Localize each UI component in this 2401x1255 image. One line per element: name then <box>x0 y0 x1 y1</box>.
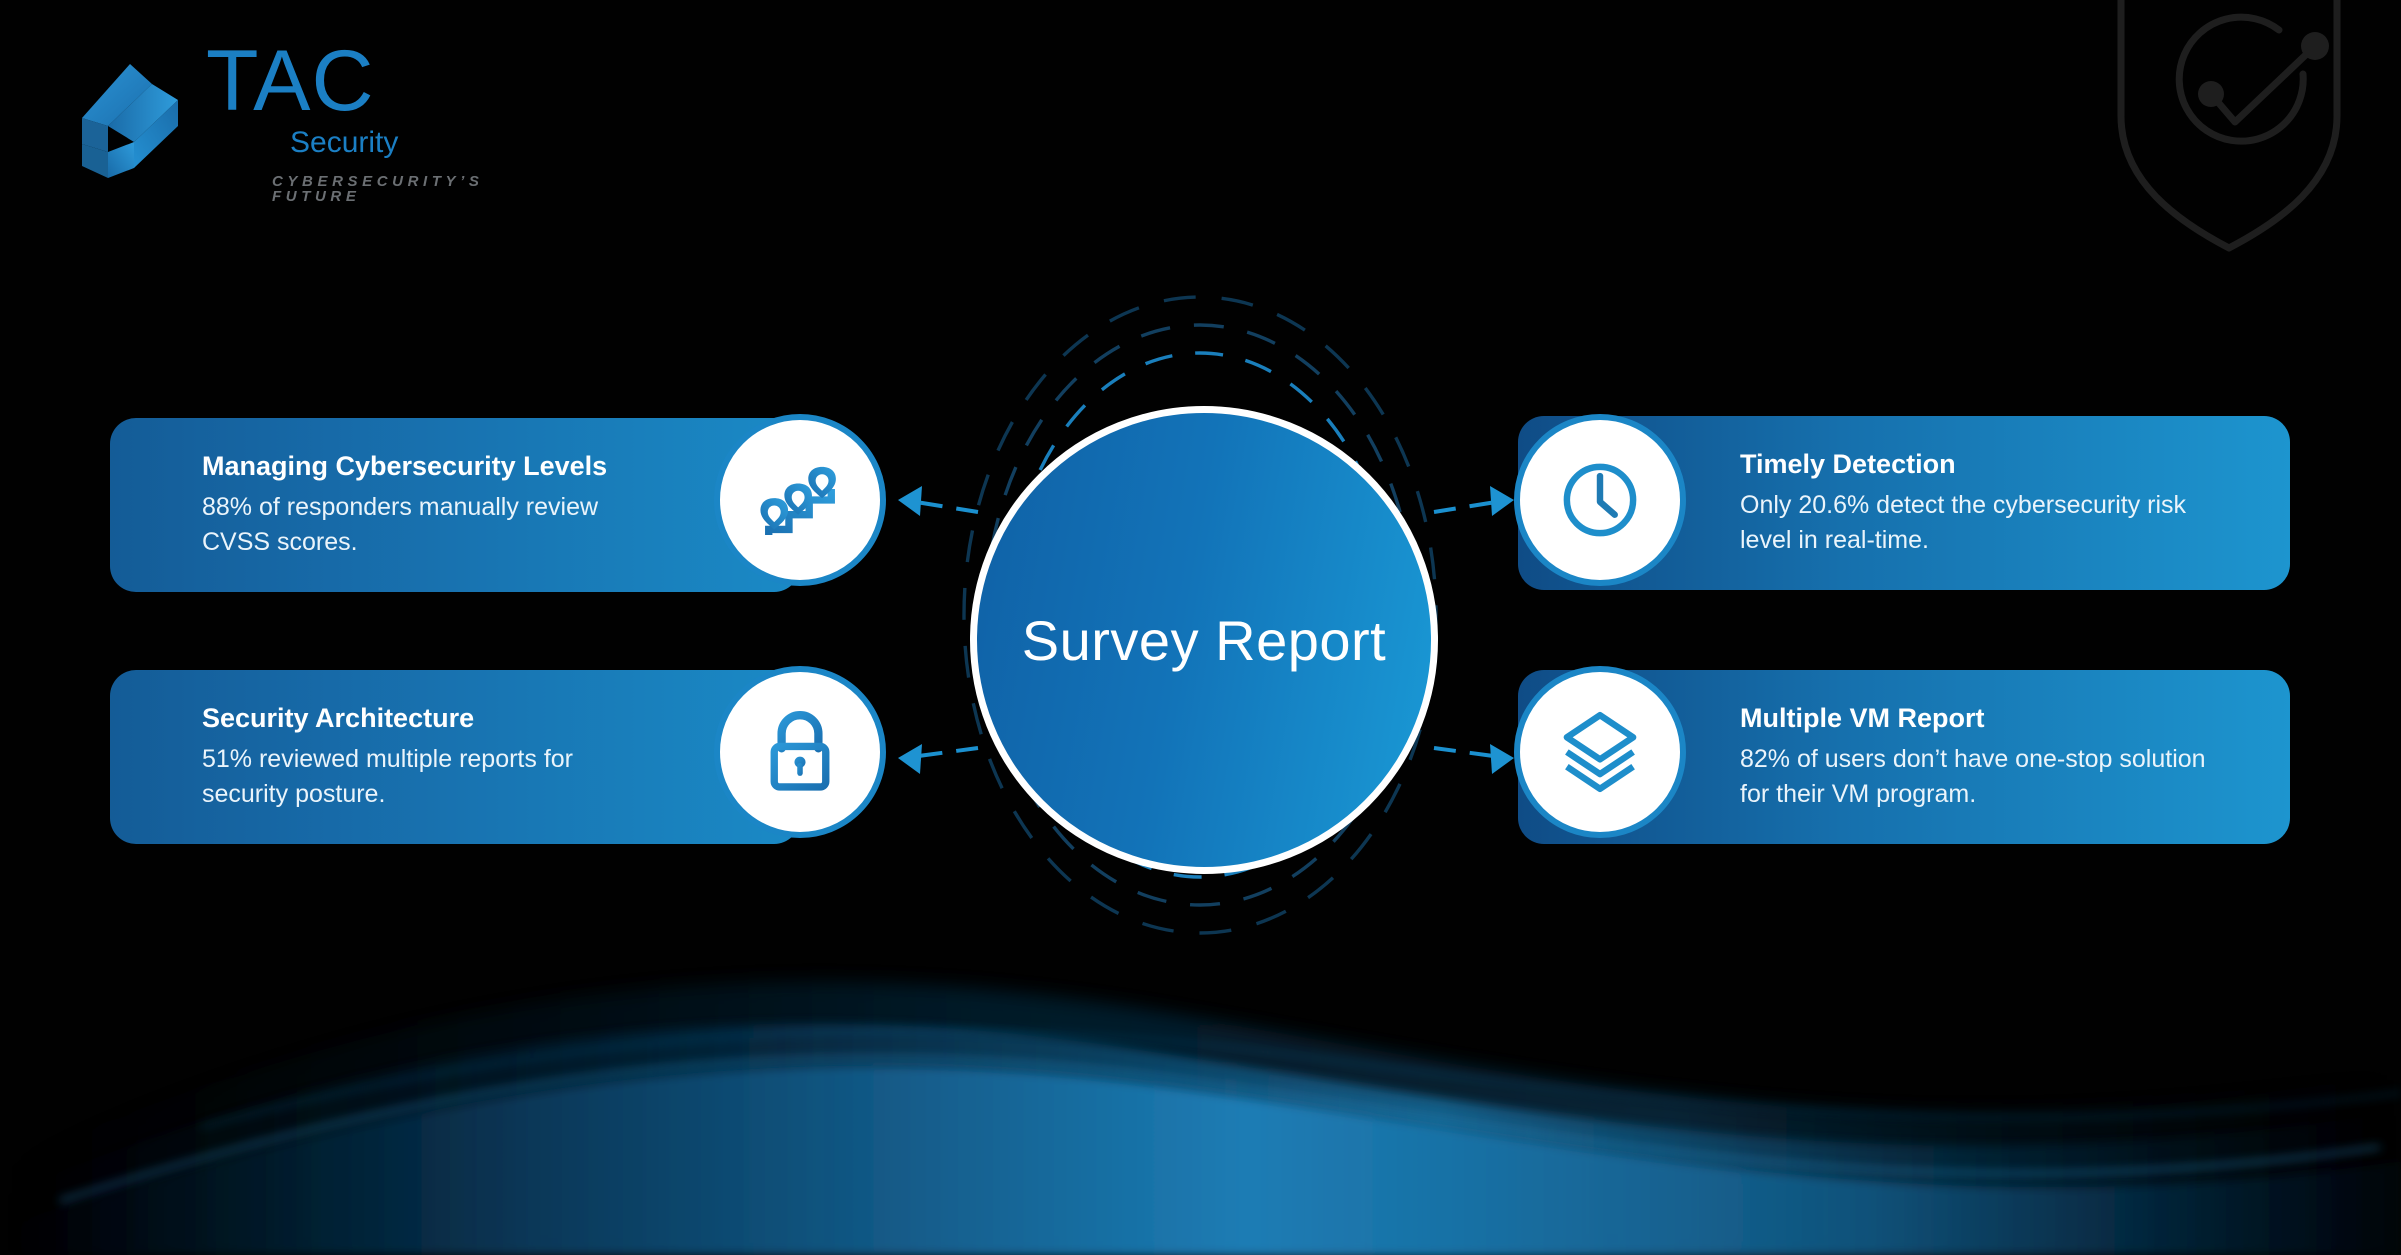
icon-bubble-timely[interactable] <box>1514 414 1686 586</box>
hub-label: Survey Report <box>1022 608 1386 673</box>
logo-wordmark: TAC <box>206 38 375 124</box>
card-title: Multiple VM Report <box>1740 703 2230 734</box>
layers-stack-icon <box>1554 706 1646 798</box>
icon-bubble-architecture[interactable] <box>714 666 886 838</box>
logo-subtitle: Security <box>290 128 398 158</box>
card-title: Managing Cybersecurity Levels <box>202 451 650 482</box>
shields-on-steps-icon <box>754 454 846 546</box>
shield-check-watermark-icon <box>2101 0 2401 286</box>
card-security-architecture[interactable]: Security Architecture 51% reviewed multi… <box>110 670 800 844</box>
brand-logo[interactable]: TAC Security CYBERSECURITY’S FUTURE <box>68 38 488 198</box>
icon-bubble-vm[interactable] <box>1514 666 1686 838</box>
card-title: Security Architecture <box>202 703 650 734</box>
card-description: Only 20.6% detect the cybersecurity risk… <box>1740 488 2230 557</box>
padlock-icon <box>754 706 846 798</box>
clock-icon <box>1554 454 1646 546</box>
logo-tagline: CYBERSECURITY’S FUTURE <box>272 174 488 204</box>
center-hub-circle[interactable]: Survey Report <box>970 406 1438 874</box>
tac-pinwheel-logo-icon <box>68 56 196 184</box>
card-description: 51% reviewed multiple reports for securi… <box>202 742 650 811</box>
card-description: 82% of users don’t have one-stop solutio… <box>1740 742 2230 811</box>
blue-wave-mesh-background-icon <box>0 835 2401 1255</box>
card-title: Timely Detection <box>1740 449 2230 480</box>
card-description: 88% of responders manually review CVSS s… <box>202 490 650 559</box>
card-managing-cybersecurity-levels[interactable]: Managing Cybersecurity Levels 88% of res… <box>110 418 800 592</box>
icon-bubble-managing[interactable] <box>714 414 886 586</box>
